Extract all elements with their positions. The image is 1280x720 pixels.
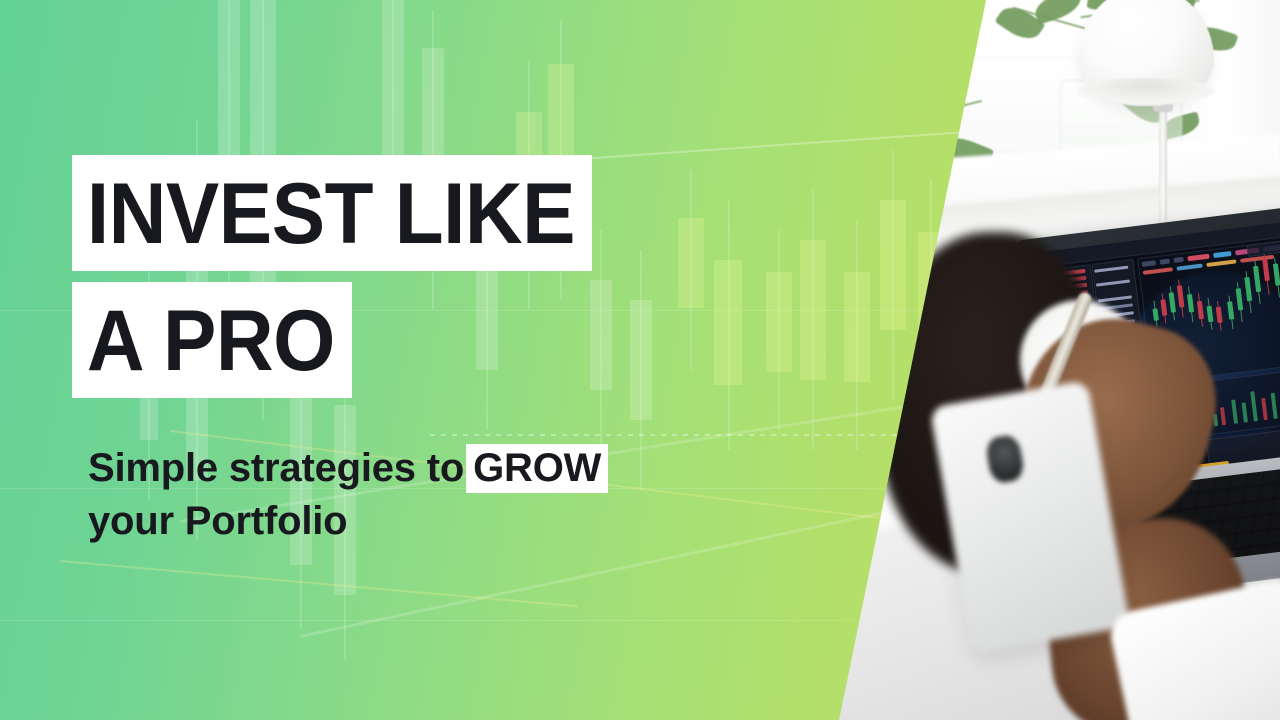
subtitle-line-1: Simple strategies toGROW bbox=[88, 442, 608, 495]
subtitle-line-2: your Portfolio bbox=[88, 495, 608, 548]
headline-line-2: A PRO bbox=[72, 282, 352, 398]
page-title: INVEST LIKE A PRO bbox=[72, 155, 631, 398]
lamp-lip bbox=[1078, 78, 1214, 104]
subtitle: Simple strategies toGROW your Portfolio bbox=[88, 442, 608, 548]
headline-line-1: INVEST LIKE bbox=[72, 155, 592, 271]
subtitle-text-before: Simple strategies to bbox=[88, 446, 464, 490]
promo-banner: INVEST LIKE A PRO Simple strategies toGR… bbox=[0, 0, 1280, 720]
subtitle-highlight-grow: GROW bbox=[466, 444, 608, 493]
